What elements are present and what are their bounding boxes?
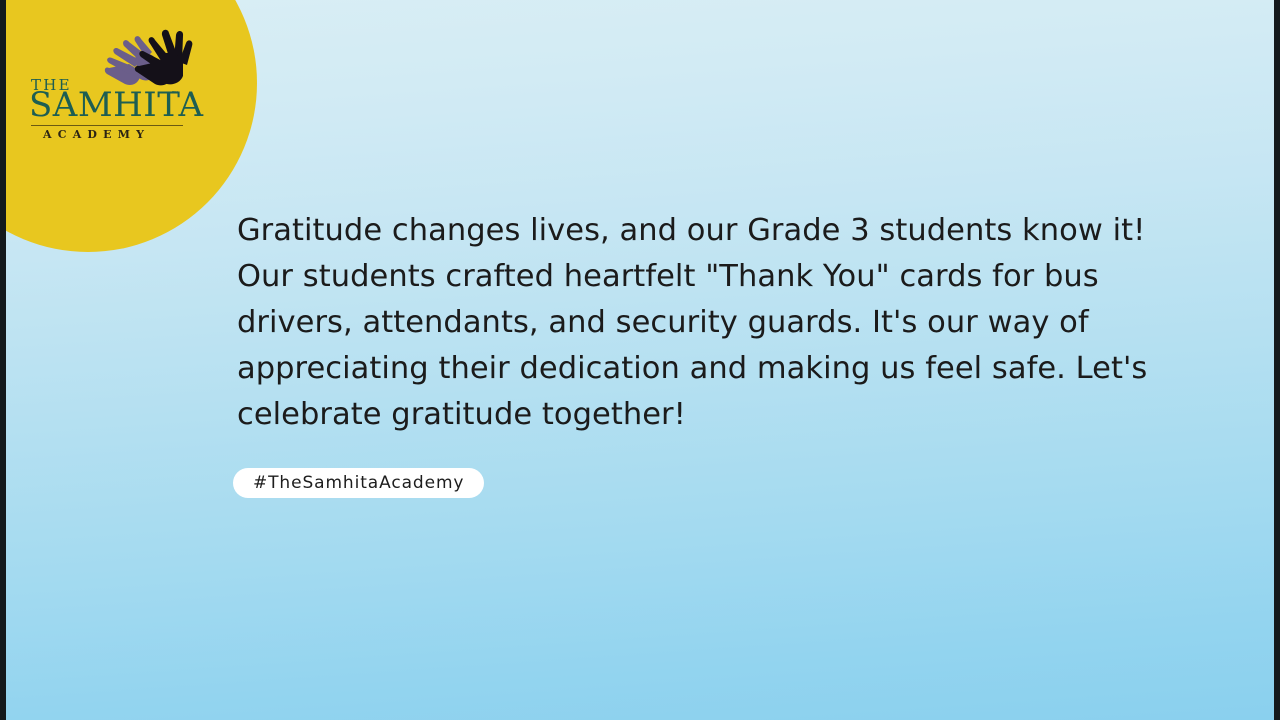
two-hands-icon [99, 24, 195, 90]
caption-line: celebrate gratitude together! [237, 392, 1137, 438]
caption-line: drivers, attendants, and security guards… [237, 300, 1137, 346]
hashtag-badge[interactable]: #TheSamhitaAcademy [233, 468, 484, 498]
logo-trademark-mark: ™ [171, 90, 179, 99]
logo-academy-text: ACADEMY [43, 128, 150, 141]
hashtag-label: #TheSamhitaAcademy [253, 473, 464, 493]
letterbox-right-bar [1274, 0, 1280, 720]
caption-line: Our students crafted heartfelt "Thank Yo… [237, 254, 1137, 300]
letterbox-left-bar [0, 0, 6, 720]
logo-divider-rule [31, 125, 183, 126]
slide-background: THE SAMHITA ™ ACADEMY Gratitude changes … [5, 0, 1275, 720]
caption-line: Gratitude changes lives, and our Grade 3… [237, 208, 1137, 254]
caption-line: appreciating their dedication and making… [237, 346, 1137, 392]
caption-text: Gratitude changes lives, and our Grade 3… [237, 208, 1137, 438]
brand-logo[interactable]: THE SAMHITA ™ ACADEMY [27, 24, 195, 140]
social-post-slide: THE SAMHITA ™ ACADEMY Gratitude changes … [0, 0, 1280, 720]
